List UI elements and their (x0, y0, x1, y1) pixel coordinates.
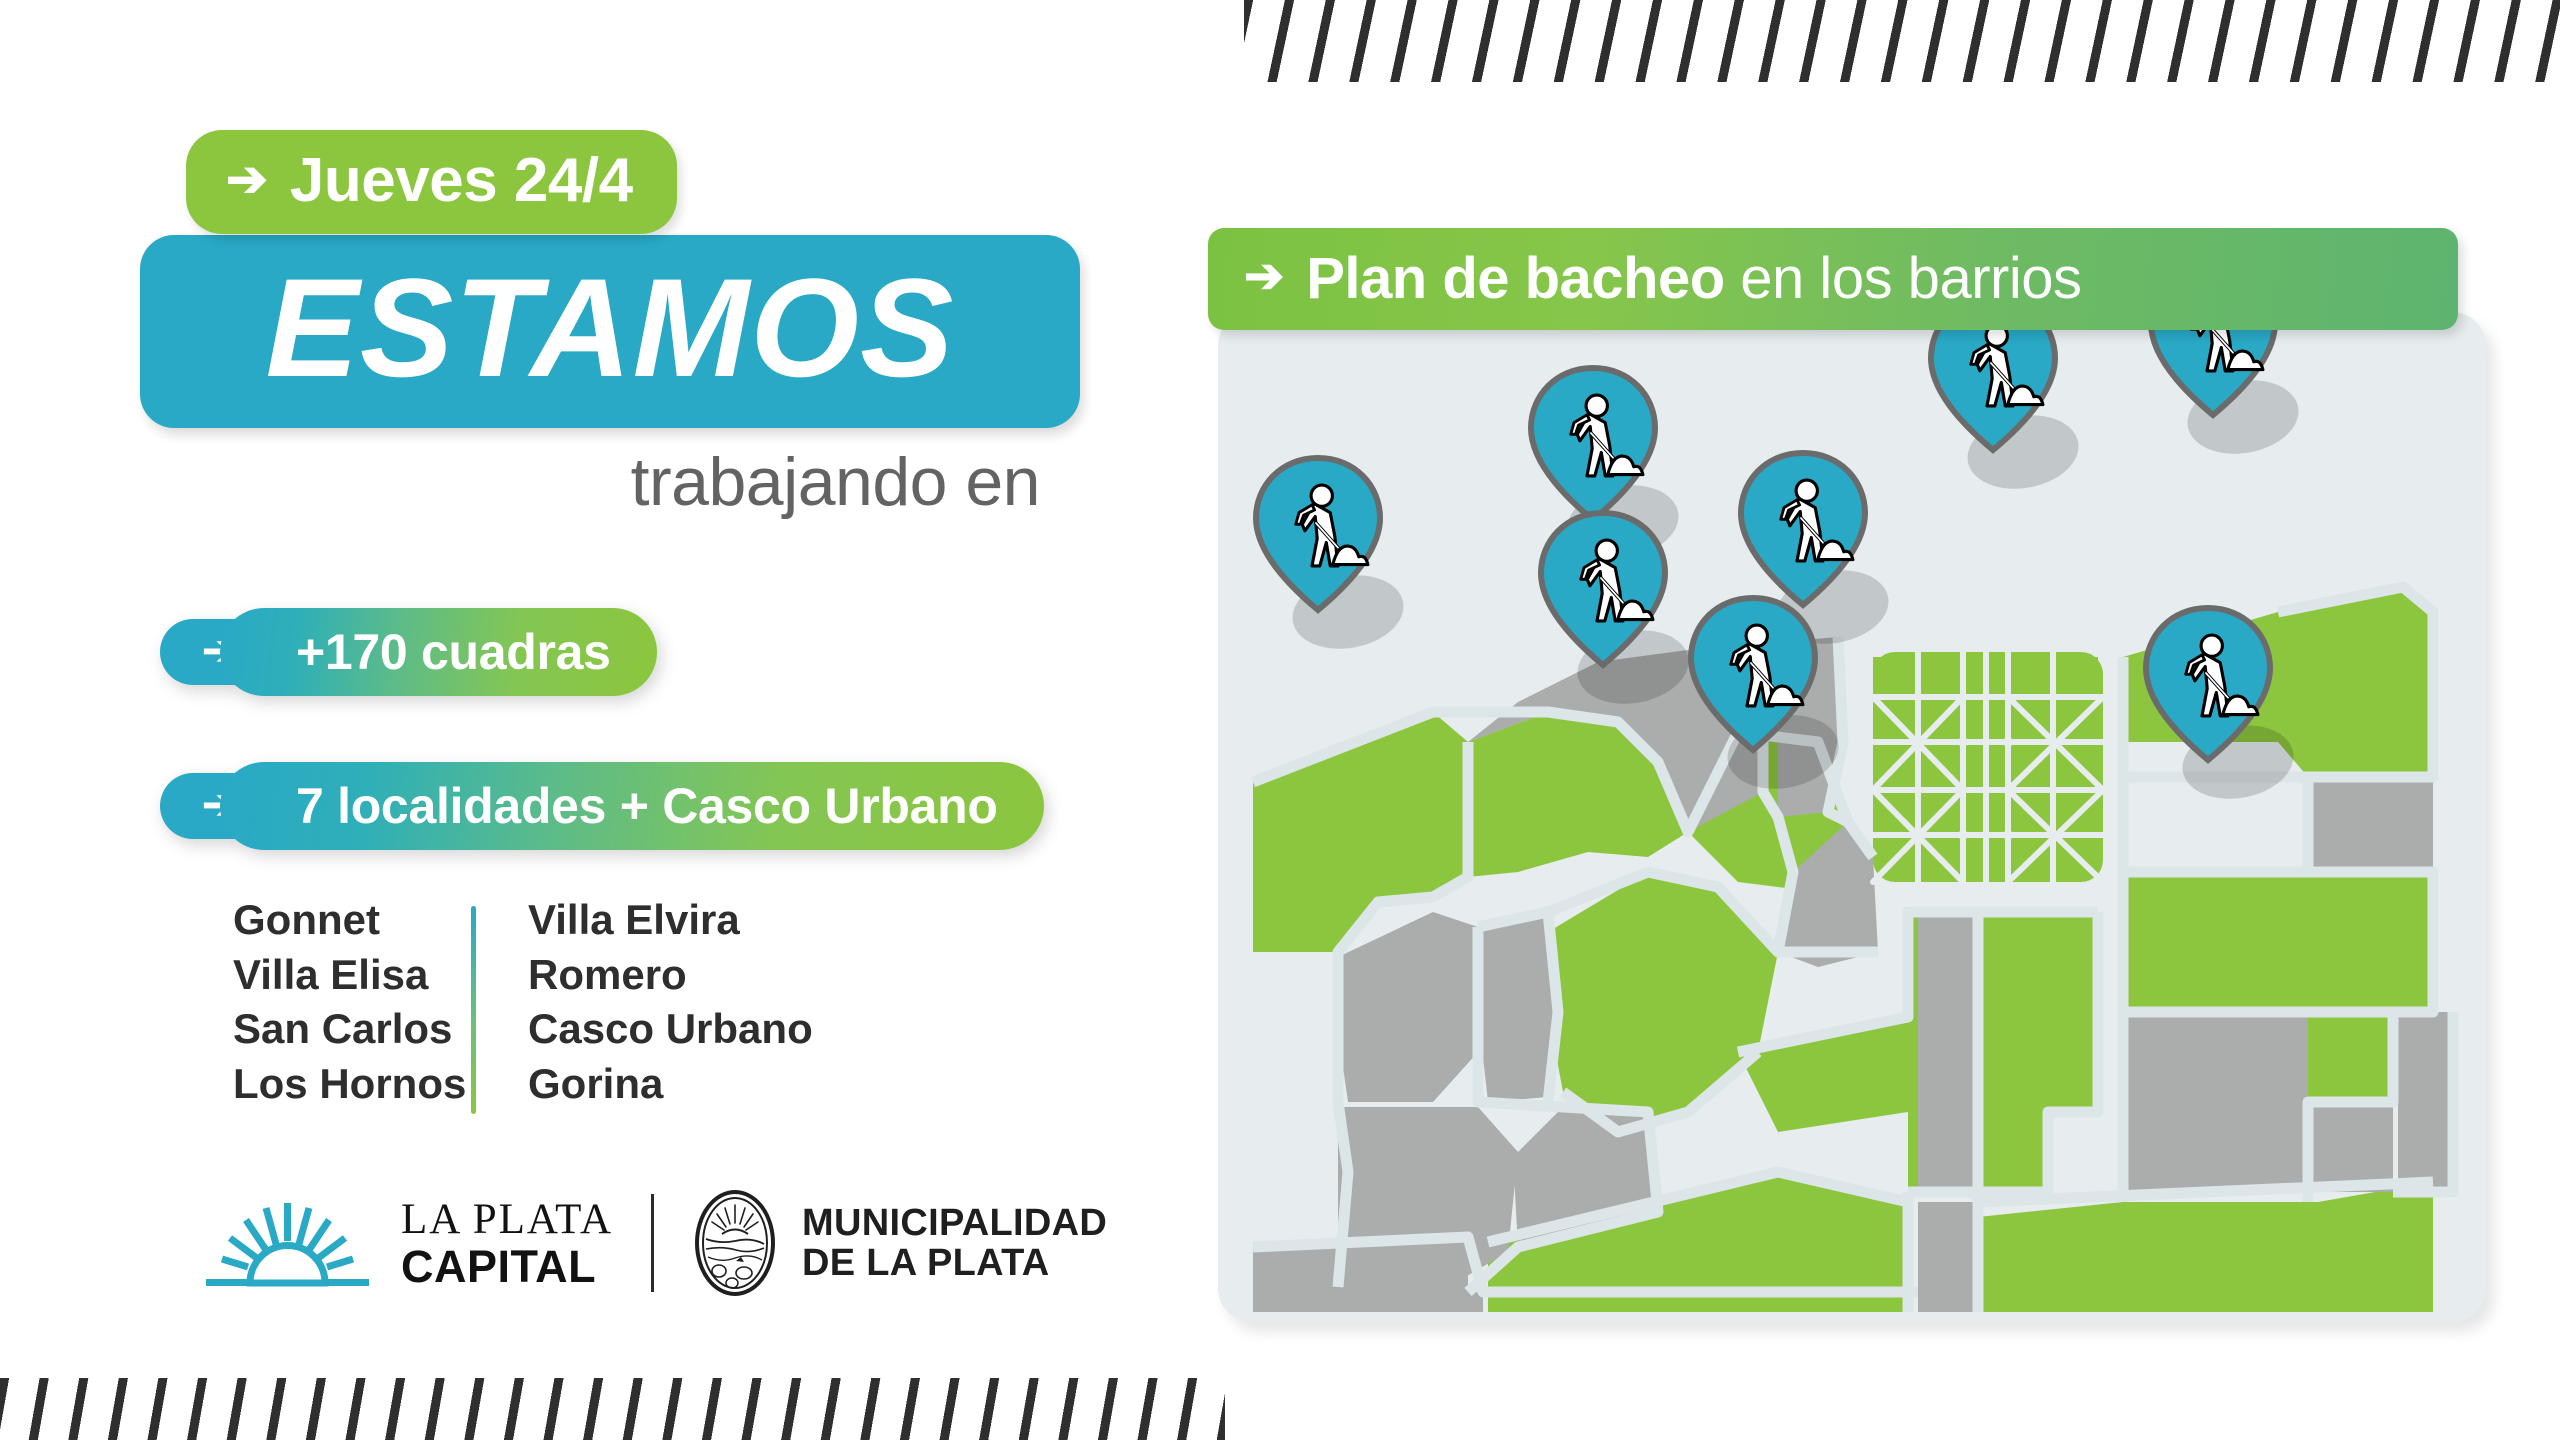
date-badge: ➔ Jueves 24/4 (186, 130, 677, 234)
list-item: Gorina (528, 1062, 813, 1107)
logo-line-2-bold: LA PLATA (866, 1242, 1049, 1284)
map-header-title: Plan de bacheo en los barrios (1306, 250, 2081, 308)
locality-column-right: Villa Elvira Romero Casco Urbano Gorina (476, 898, 813, 1106)
infographic-poster: ➔ Jueves 24/4 ESTAMOS trabajando en ➔ +1… (0, 0, 2560, 1440)
logo-line-2-thin: DE (802, 1242, 866, 1284)
map-header-strong: Plan de bacheo (1306, 246, 1724, 311)
list-item: Los Hornos (233, 1062, 471, 1107)
list-item: Villa Elisa (233, 953, 471, 998)
logo-row: LA PLATA CAPITAL (200, 1188, 1107, 1298)
locality-column-left: Gonnet Villa Elisa San Carlos Los Hornos (233, 898, 471, 1106)
map-panel (1218, 312, 2486, 1322)
municipalidad-logo: MUNICIPALIDAD DE LA PLATA (692, 1189, 1107, 1297)
crest-icon (692, 1189, 778, 1297)
arrow-right-icon: ➔ (1244, 253, 1284, 301)
logo-line-1: MUNICIPALIDAD (802, 1203, 1107, 1243)
map-header-banner: ➔ Plan de bacheo en los barrios (1208, 228, 2458, 330)
casco-urbano-grid (1873, 652, 2103, 882)
list-item: Romero (528, 953, 813, 998)
logo-line-1: LA PLATA (401, 1198, 613, 1241)
list-item: Villa Elvira (528, 898, 813, 943)
la-plata-capital-logo: LA PLATA CAPITAL (200, 1198, 613, 1289)
logo-line-2: DE LA PLATA (802, 1243, 1107, 1283)
pill-body: +170 cuadras (220, 608, 657, 696)
stat-pill-cuadras: ➔ +170 cuadras (160, 608, 657, 696)
list-item: Gonnet (233, 898, 471, 943)
stat-pill-localidades: ➔ 7 localidades + Casco Urbano (160, 762, 1044, 850)
map-header-light: en los barrios (1725, 246, 2082, 311)
headline-badge: ESTAMOS (140, 235, 1080, 428)
arrow-right-icon: ➔ (226, 154, 268, 204)
diagonal-stripes-top (1244, 0, 2560, 82)
municipalidad-wordmark: MUNICIPALIDAD DE LA PLATA (802, 1203, 1107, 1284)
stat-label-localidades: 7 localidades + Casco Urbano (296, 781, 998, 831)
logo-divider (651, 1194, 654, 1292)
left-content-column: ➔ Jueves 24/4 ESTAMOS trabajando en ➔ +1… (0, 0, 1200, 1440)
pill-body: 7 localidades + Casco Urbano (220, 762, 1044, 850)
la-plata-wordmark: LA PLATA CAPITAL (401, 1198, 613, 1289)
subheadline-text: trabajando en (0, 448, 1040, 516)
stat-label-cuadras: +170 cuadras (296, 627, 611, 677)
sunburst-icon (200, 1199, 375, 1287)
city-map-graphic (1218, 312, 2486, 1322)
locality-list: Gonnet Villa Elisa San Carlos Los Hornos… (233, 898, 813, 1114)
headline-text: ESTAMOS (180, 257, 1040, 400)
logo-line-2: CAPITAL (401, 1244, 613, 1289)
list-item: San Carlos (233, 1007, 471, 1052)
list-item: Casco Urbano (528, 1007, 813, 1052)
date-label: Jueves 24/4 (290, 150, 633, 212)
